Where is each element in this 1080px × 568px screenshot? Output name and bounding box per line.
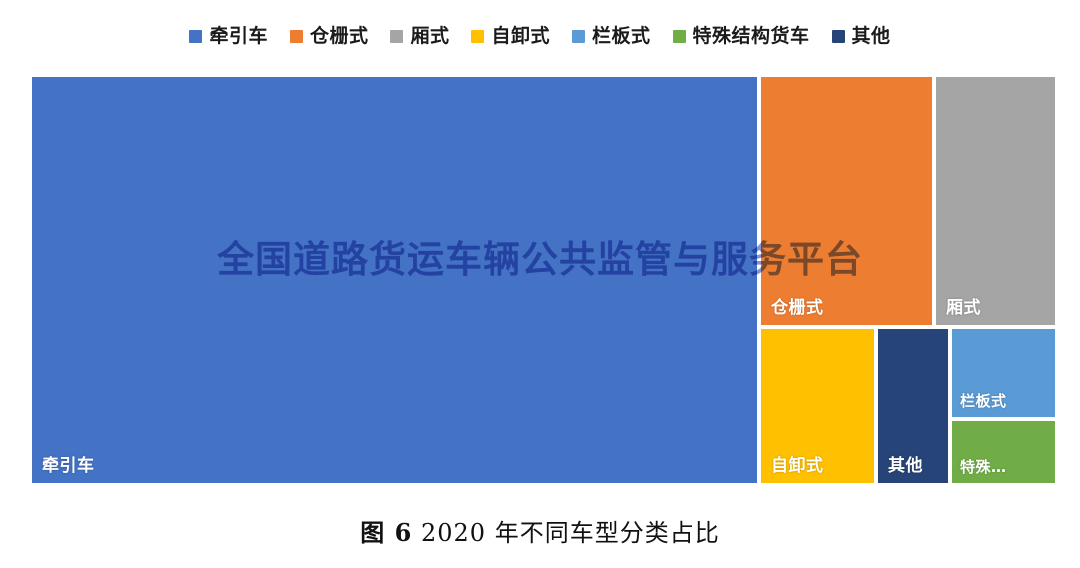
legend-swatch-icon	[189, 30, 202, 43]
figure-caption-text: 2020 年不同车型分类占比	[421, 519, 720, 547]
legend-swatch-icon	[673, 30, 686, 43]
treemap-tile-label: 仓栅式	[771, 293, 824, 318]
legend-item-label: 特殊结构货车	[693, 27, 810, 46]
treemap-tile-cangshanshi[interactable]: 仓栅式	[761, 77, 932, 325]
treemap-tile-teshujiegouhuoche[interactable]: 特殊…	[952, 421, 1055, 483]
treemap-tile-label: 其他	[888, 451, 923, 476]
legend-item-label: 其他	[852, 27, 891, 46]
treemap-tile-qianyinche[interactable]: 牵引车	[32, 77, 757, 483]
treemap-tile-label: 特殊…	[960, 456, 1007, 477]
legend-item-0[interactable]: 牵引车	[189, 27, 268, 46]
legend-item-label: 厢式	[410, 27, 449, 46]
legend-item-3[interactable]: 自卸式	[471, 27, 550, 46]
legend-item-label: 仓栅式	[310, 27, 369, 46]
legend-swatch-icon	[471, 30, 484, 43]
legend-item-2[interactable]: 厢式	[390, 27, 449, 46]
legend-item-1[interactable]: 仓栅式	[290, 27, 369, 46]
legend-swatch-icon	[390, 30, 403, 43]
chart-legend: 牵引车 仓栅式 厢式 自卸式 栏板式 特殊结构货车 其他	[0, 16, 1080, 56]
legend-item-label: 自卸式	[491, 27, 550, 46]
figure-caption: 图 6 2020 年不同车型分类占比	[0, 513, 1080, 548]
treemap-plot-area: 牵引车 仓栅式 厢式 自卸式 其他 栏板式 特殊… 全国道路货运车辆公共监管与服…	[0, 56, 1080, 496]
legend-swatch-icon	[572, 30, 585, 43]
legend-item-label: 牵引车	[209, 27, 268, 46]
treemap-tile-qita[interactable]: 其他	[878, 329, 948, 483]
treemap-tile-label: 栏板式	[960, 390, 1007, 411]
legend-swatch-icon	[290, 30, 303, 43]
legend-item-label: 栏板式	[592, 27, 651, 46]
treemap-tile-label: 牵引车	[42, 451, 95, 476]
treemap-tile-label: 厢式	[946, 293, 981, 318]
figure-number: 图 6	[360, 518, 412, 547]
legend-item-6[interactable]: 其他	[832, 27, 891, 46]
treemap-tile-label: 自卸式	[771, 451, 824, 476]
treemap-tile-lanbanshi[interactable]: 栏板式	[952, 329, 1055, 417]
legend-swatch-icon	[832, 30, 845, 43]
treemap-tile-xiangshi[interactable]: 厢式	[936, 77, 1055, 325]
legend-item-5[interactable]: 特殊结构货车	[673, 27, 810, 46]
legend-item-4[interactable]: 栏板式	[572, 27, 651, 46]
treemap-tile-zixieshi[interactable]: 自卸式	[761, 329, 874, 483]
